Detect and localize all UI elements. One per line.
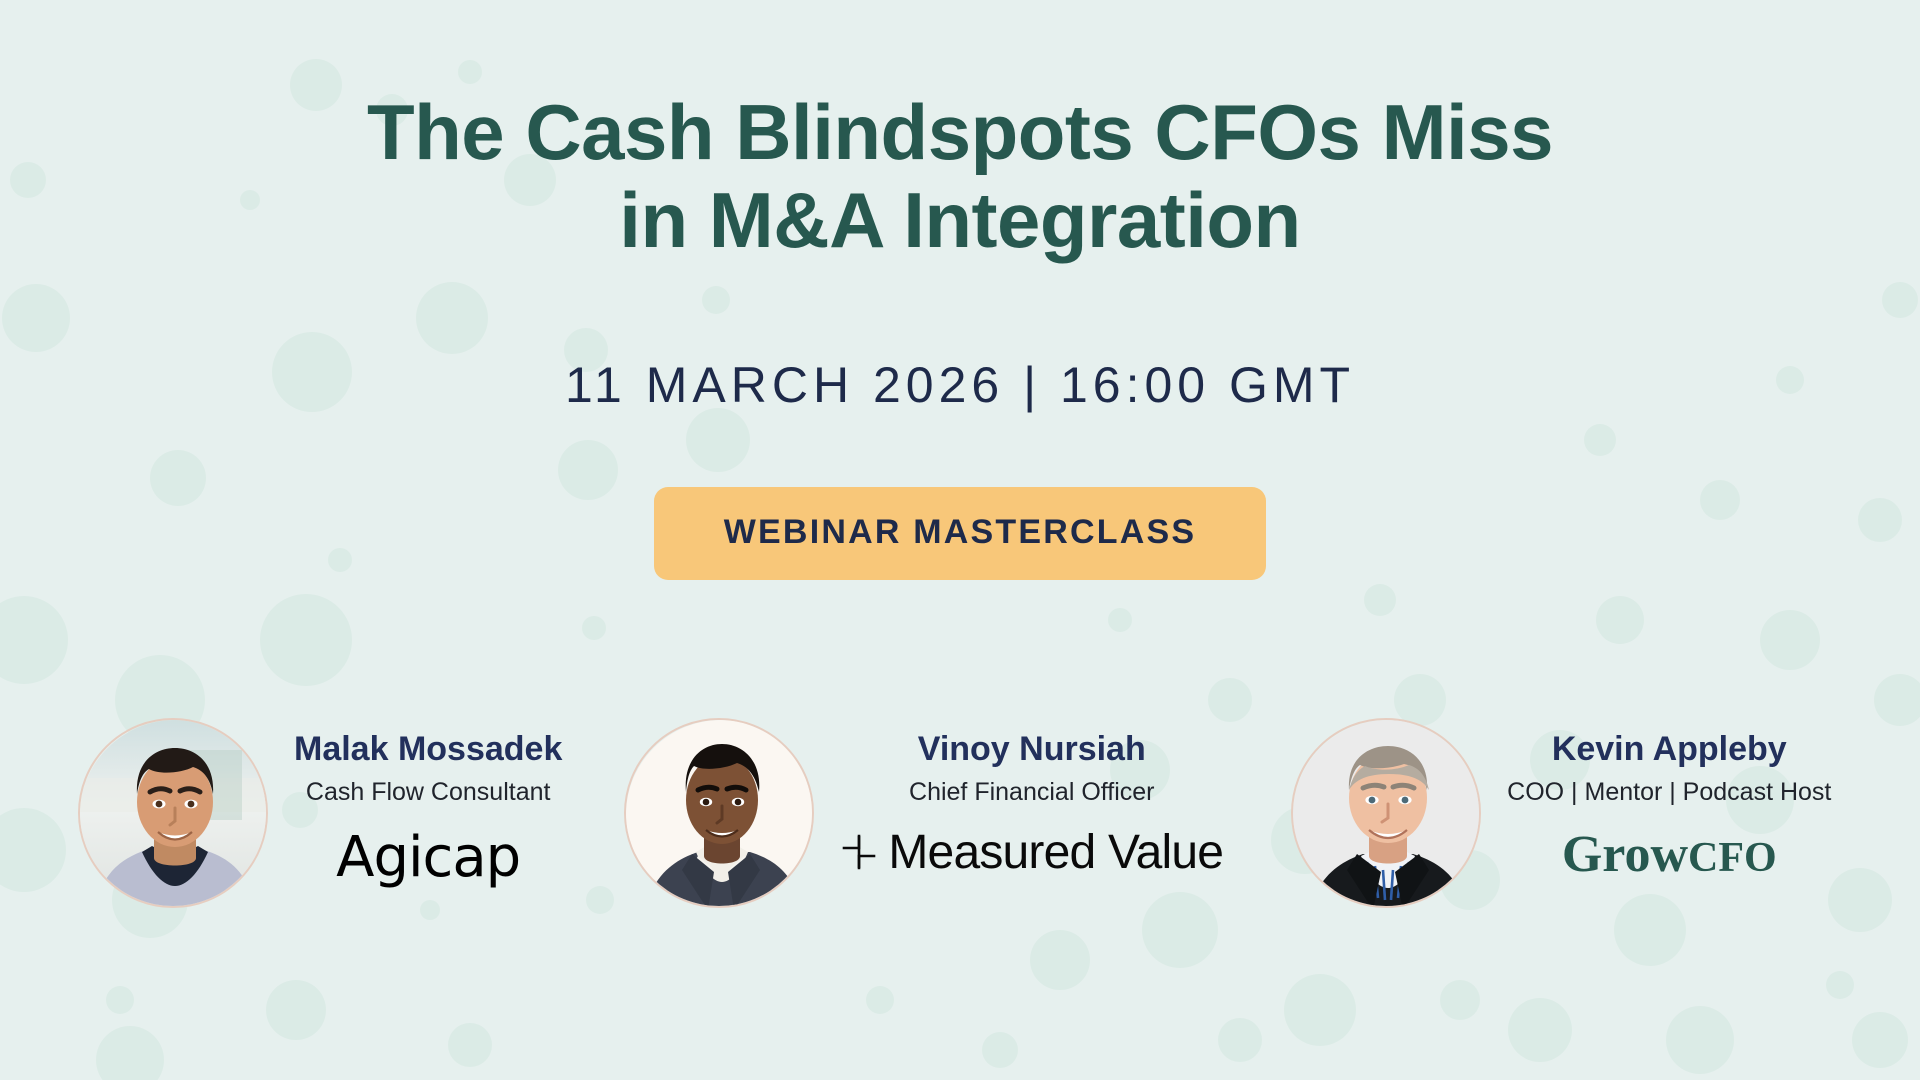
headline-line-2: in M&A Integration — [0, 176, 1920, 264]
avatar-kevin-appleby — [1291, 718, 1481, 908]
speaker-role: Cash Flow Consultant — [294, 778, 562, 807]
speaker-name: Kevin Appleby — [1507, 730, 1831, 768]
company-name: Measured Value — [888, 825, 1223, 880]
speaker-role: COO | Mentor | Podcast Host — [1507, 778, 1831, 807]
company-logo-agicap: Agicap — [294, 825, 562, 890]
event-datetime: 11 MARCH 2026 | 16:00 GMT — [0, 356, 1920, 414]
company-logo-measured-value: Measured Value — [840, 825, 1223, 880]
speaker-name: Malak Mossadek — [294, 730, 562, 768]
growcfo-prefix: Grow — [1562, 826, 1688, 883]
speaker-details: Vinoy Nursiah Chief Financial Officer Me… — [840, 718, 1223, 880]
webinar-masterclass-badge[interactable]: WEBINAR MASTERCLASS — [654, 487, 1266, 580]
company-name: Agicap — [336, 825, 520, 890]
speaker-details: Malak Mossadek Cash Flow Consultant Agic… — [294, 718, 562, 890]
avatar-malak-mossadek — [78, 718, 268, 908]
speaker-card: Kevin Appleby COO | Mentor | Podcast Hos… — [1291, 718, 1831, 908]
avatar-vinoy-nursiah — [624, 718, 814, 908]
growcfo-suffix: CFO — [1688, 835, 1777, 881]
plus-cross-icon — [840, 833, 878, 871]
company-logo-growcfo: GrowCFO — [1507, 825, 1831, 884]
speaker-role: Chief Financial Officer — [840, 778, 1223, 807]
company-name: GrowCFO — [1562, 825, 1777, 884]
webinar-promo-card: The Cash Blindspots CFOs Miss in M&A Int… — [0, 0, 1920, 1080]
speaker-list: Malak Mossadek Cash Flow Consultant Agic… — [0, 718, 1920, 968]
speaker-card: Vinoy Nursiah Chief Financial Officer Me… — [624, 718, 1223, 908]
speaker-name: Vinoy Nursiah — [840, 730, 1223, 768]
badge-container: WEBINAR MASTERCLASS — [0, 487, 1920, 580]
speaker-card: Malak Mossadek Cash Flow Consultant Agic… — [78, 718, 562, 908]
speaker-details: Kevin Appleby COO | Mentor | Podcast Hos… — [1507, 718, 1831, 884]
page-title: The Cash Blindspots CFOs Miss in M&A Int… — [0, 88, 1920, 264]
headline-line-1: The Cash Blindspots CFOs Miss — [0, 88, 1920, 176]
